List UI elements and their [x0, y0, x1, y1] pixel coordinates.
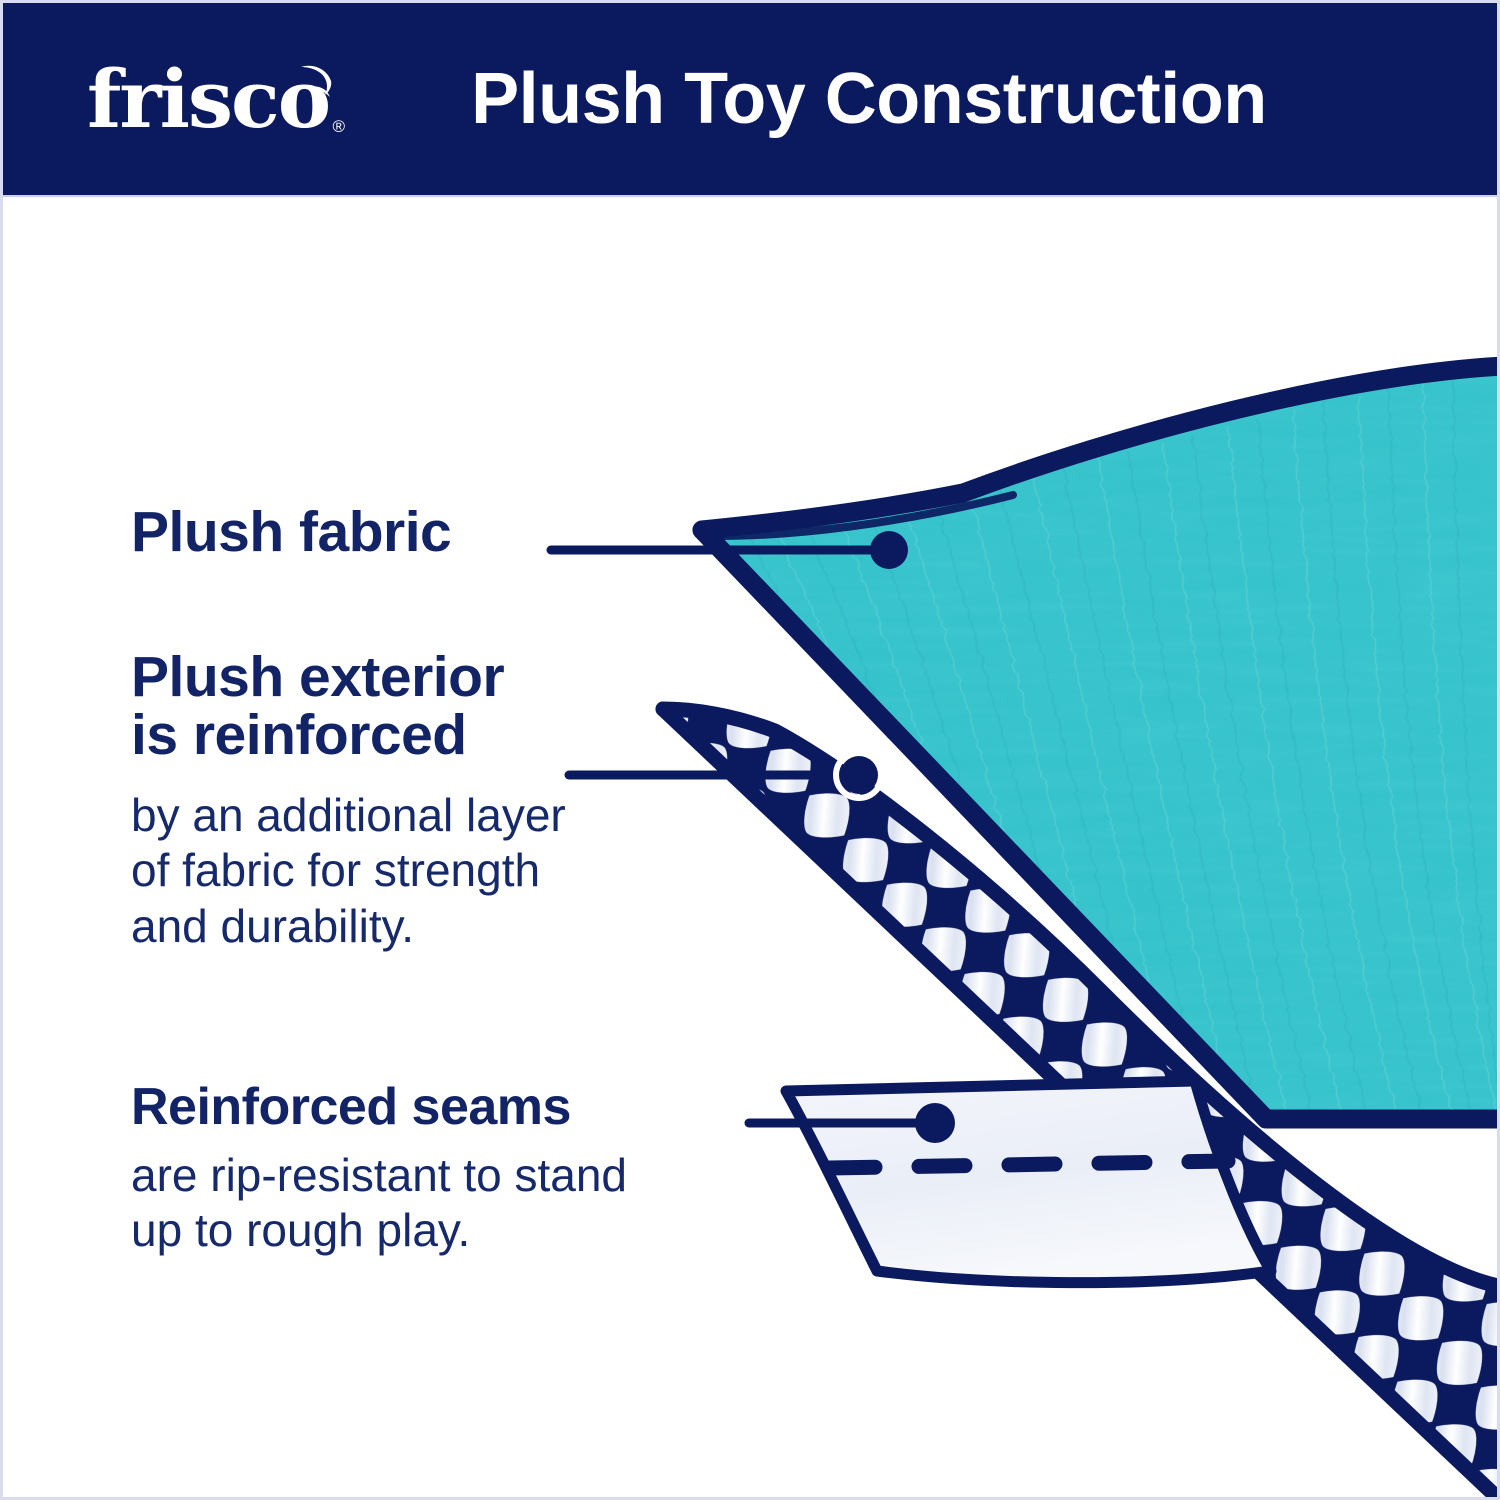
frisco-logo: frisco ®	[87, 59, 329, 139]
leader-line-reinforced-seams	[749, 1103, 955, 1143]
page-title: Plush Toy Construction	[471, 58, 1267, 140]
callout-plush-fabric-heading: Plush fabric	[131, 503, 451, 561]
callout-reinforced-seams: Reinforced seams are rip-resistant to st…	[131, 1081, 627, 1258]
callout-plush-exterior: Plush exterior is reinforced by an addit…	[131, 648, 566, 954]
infographic-page: frisco ® Plush Toy Construction	[0, 0, 1500, 1500]
callout-dot-plush-fabric	[870, 531, 908, 569]
callout-reinforced-seams-body: are rip-resistant to stand up to rough p…	[131, 1148, 627, 1258]
mesh-reinforcement-layer	[603, 653, 1500, 1500]
callout-reinforced-seams-heading: Reinforced seams	[131, 1081, 627, 1134]
leader-line-plush-fabric	[551, 531, 908, 569]
callout-plush-exterior-body: by an additional layer of fabric for str…	[131, 788, 566, 954]
callout-plush-fabric: Plush fabric	[131, 503, 451, 561]
registered-trademark-icon: ®	[333, 118, 346, 135]
header-bar: frisco ® Plush Toy Construction	[3, 3, 1497, 197]
plush-fabric-layer	[663, 353, 1500, 1143]
reinforced-seam-panel	[786, 1081, 1271, 1283]
callout-dot-reinforced-seams	[915, 1103, 955, 1143]
callout-plush-exterior-heading: Plush exterior is reinforced	[131, 648, 566, 764]
leader-line-plush-exterior	[569, 752, 882, 798]
frisco-logo-wordmark: frisco	[87, 59, 329, 139]
callout-dot-plush-exterior	[840, 756, 878, 794]
